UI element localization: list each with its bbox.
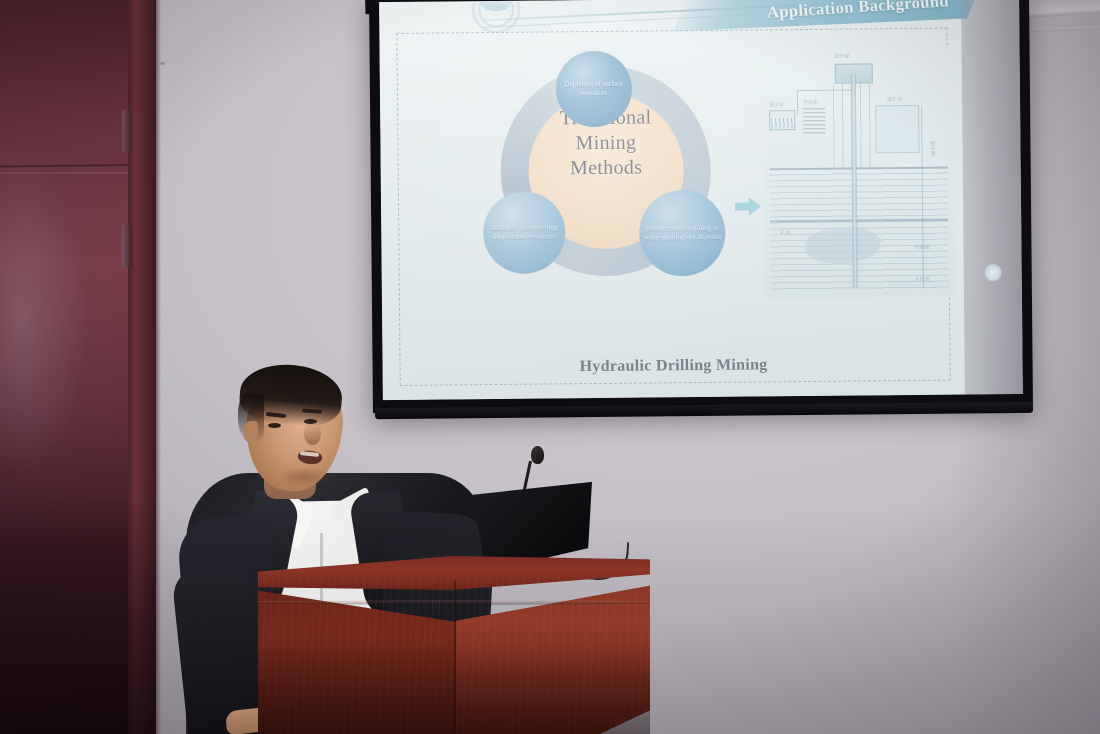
schematic-label-compressor: 空压机 <box>803 100 818 106</box>
riser-pipe-column <box>921 107 947 289</box>
venn-bubble-depletion: Depletion of surface resources <box>556 51 633 128</box>
ore-discharge-pool <box>875 105 919 153</box>
right-arrow-icon <box>734 194 762 218</box>
door-rail-highlight <box>0 172 132 174</box>
podium-shadow <box>258 646 650 734</box>
door-hinge-lower <box>122 225 132 267</box>
pump-detail-bars <box>771 118 793 128</box>
schematic-label-water-jet: 水射流 <box>915 277 930 283</box>
door-shadow <box>0 494 156 734</box>
screen-unlit-margin <box>961 0 1023 394</box>
projection-screen: Application Background Traditional Minin… <box>369 0 1033 413</box>
hydraulic-drilling-mining-schematic: 提升架 高压泵 空压机 排矿池 矿层 提升管 气液阀 水射流 <box>763 49 955 299</box>
door-wall-edge <box>156 0 161 734</box>
schematic-label-valve: 气液阀 <box>914 245 929 251</box>
venn-center-line-3: Methods <box>529 155 684 181</box>
schematic-label-ore-layer: 矿层 <box>780 230 790 236</box>
venn-diagram: Traditional Mining Methods Depletion of … <box>478 47 730 299</box>
presenter-eye-left <box>268 423 281 428</box>
screen-light-hotspot <box>985 264 1002 281</box>
presenter-ear <box>243 421 258 443</box>
venn-center-line-2: Mining <box>528 130 683 156</box>
door-hinge-upper <box>122 110 132 152</box>
screen-surface: Application Background Traditional Minin… <box>379 0 1023 400</box>
schematic-label-hoist: 提升架 <box>835 54 850 60</box>
air-compressor-unit <box>803 108 825 136</box>
wooden-podium <box>258 556 650 734</box>
schematic-label-riser: 提升管 <box>929 141 935 156</box>
presenter-nose <box>304 423 321 445</box>
room-door[interactable] <box>0 0 160 734</box>
venn-bubble-water-gushing: Restrictions on mining in water-gushing … <box>639 190 726 277</box>
schematic-label-pump: 高压泵 <box>769 102 784 108</box>
schematic-label-pool: 排矿池 <box>887 97 902 103</box>
venn-bubble-deep-resources: Difficulty in exploiting deep-seated res… <box>483 191 566 274</box>
presenter-chin-shadow <box>278 467 330 487</box>
wall-fixture-screw <box>160 62 165 65</box>
logo-wave-shape <box>481 0 511 11</box>
conference-room-scene: Application Background Traditional Minin… <box>0 0 1100 734</box>
microphone-head <box>531 446 544 464</box>
projected-slide: Application Background Traditional Minin… <box>379 0 965 400</box>
institution-wave-logo-icon <box>467 0 525 33</box>
